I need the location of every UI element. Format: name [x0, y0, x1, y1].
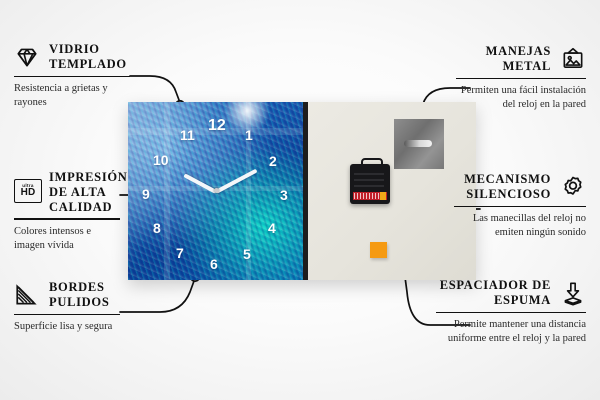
- gear-icon: [560, 174, 586, 200]
- picture-frame-hanger-icon: [560, 46, 586, 72]
- callout-title: MANEJAS METAL: [456, 44, 551, 74]
- callout-bordes-pulidos: BORDES PULIDOS Superficie lisa y segura: [14, 280, 120, 334]
- numeral-7: 7: [176, 246, 184, 260]
- infographic-canvas: 12 1 2 3 4 5 6 7 8 9 10 11: [0, 0, 600, 400]
- diamond-icon: [14, 44, 40, 70]
- callout-subtitle: Resistencia a grietas y rayones: [14, 82, 130, 110]
- callout-impresion-alta-calidad: ultra HD IMPRESIÓN DE ALTA CALIDAD Color…: [14, 170, 120, 253]
- numeral-9: 9: [142, 187, 150, 201]
- callout-espaciador-espuma: ESPACIADOR DE ESPUMA Permite mantener un…: [436, 278, 586, 346]
- numeral-2: 2: [269, 154, 277, 168]
- diagonal-lines-icon: [14, 282, 40, 308]
- callout-rule: [454, 206, 586, 208]
- foam-spacer: [370, 242, 387, 258]
- callout-mecanismo-silencioso: MECANISMO SILENCIOSO Las manecillas del …: [454, 172, 586, 240]
- clock-pivot: [214, 188, 219, 193]
- callout-title: BORDES PULIDOS: [49, 280, 120, 310]
- numeral-5: 5: [243, 247, 251, 261]
- numeral-12: 12: [208, 118, 226, 134]
- product-photo: 12 1 2 3 4 5 6 7 8 9 10 11: [128, 102, 476, 280]
- callout-title: VIDRIO TEMPLADO: [49, 42, 130, 72]
- callout-rule: [14, 76, 130, 78]
- callout-title: MECANISMO SILENCIOSO: [454, 172, 551, 202]
- callout-rule: [436, 312, 586, 314]
- callout-subtitle: Permiten una fácil instalación del reloj…: [456, 84, 586, 112]
- callout-subtitle: Las manecillas del reloj no emiten ningú…: [454, 212, 586, 240]
- numeral-3: 3: [280, 188, 288, 202]
- callout-rule: [14, 314, 120, 316]
- callout-manejas-metal: MANEJAS METAL Permiten una fácil instala…: [456, 44, 586, 112]
- numeral-6: 6: [210, 257, 218, 271]
- down-arrow-layers-icon: [560, 280, 586, 306]
- ultra-hd-icon-main: HD: [21, 188, 36, 198]
- numeral-8: 8: [153, 221, 161, 235]
- callout-rule: [456, 78, 586, 80]
- callout-rule: [14, 218, 120, 220]
- clock-face: 12 1 2 3 4 5 6 7 8 9 10 11: [128, 102, 303, 280]
- clock-back: [308, 102, 476, 280]
- quartz-movement: [350, 164, 390, 204]
- callout-vidrio-templado: VIDRIO TEMPLADO Resistencia a grietas y …: [14, 42, 130, 110]
- numeral-1: 1: [245, 128, 253, 142]
- numeral-4: 4: [268, 221, 276, 235]
- callout-title: IMPRESIÓN DE ALTA CALIDAD: [49, 170, 128, 214]
- callout-subtitle: Colores intensos e imagen vívida: [14, 225, 120, 253]
- numeral-11: 11: [180, 128, 195, 142]
- callout-title: ESPACIADOR DE ESPUMA: [436, 278, 551, 308]
- numeral-10: 10: [153, 153, 169, 167]
- metal-hanger-plate: [394, 119, 444, 169]
- callout-subtitle: Superficie lisa y segura: [14, 320, 120, 334]
- callout-subtitle: Permite mantener una distancia uniforme …: [436, 318, 586, 346]
- ultra-hd-icon: ultra HD: [14, 179, 40, 205]
